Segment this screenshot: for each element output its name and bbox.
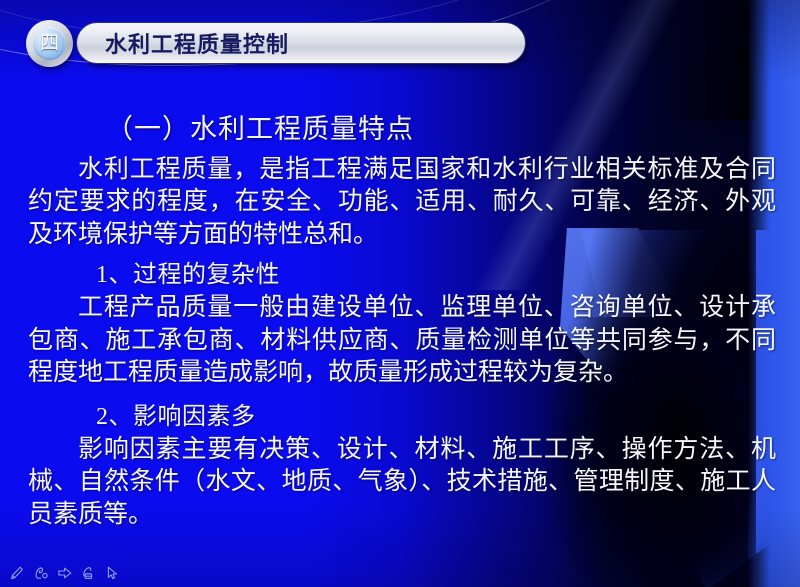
section-number-badge-inner: 四 [33, 27, 66, 60]
slide-title-pill: 水利工程质量控制 [76, 22, 526, 64]
page-title: 水利工程质量控制 [105, 27, 289, 59]
annotation-toolbar[interactable] [8, 564, 121, 581]
content-heading: （一）水利工程质量特点 [106, 112, 776, 148]
slide-title-bar: 四 水利工程质量控制 [26, 20, 526, 66]
slide-content: （一）水利工程质量特点 水利工程质量，是指工程满足国家和水利行业相关标准及合同约… [28, 112, 776, 533]
eraser-icon[interactable] [80, 564, 97, 581]
cursor-icon[interactable] [104, 564, 121, 581]
presentation-slide: 四 水利工程质量控制 （一）水利工程质量特点 水利工程质量，是指工程满足国家和水… [0, 0, 800, 587]
section-2-paragraph: 影响因素主要有决策、设计、材料、施工工序、操作方法、机械、自然条件（水文、地质、… [28, 434, 776, 532]
section-number-label: 四 [40, 34, 59, 53]
spacer [28, 392, 776, 401]
section-number-badge: 四 [26, 20, 73, 67]
pen-icon[interactable] [8, 564, 25, 581]
intro-paragraph: 水利工程质量，是指工程满足国家和水利行业相关标准及合同约定要求的程度，在安全、功… [28, 154, 776, 252]
highlighter-icon[interactable] [32, 564, 49, 581]
section-1-label: 1、过程的复杂性 [96, 259, 776, 291]
pointer-arrow-icon[interactable] [56, 564, 73, 581]
section-2-label: 2、影响因素多 [96, 401, 776, 433]
section-1-paragraph: 工程产品质量一般由建设单位、监理单位、咨询单位、设计承包商、施工承包商、材料供应… [28, 292, 776, 390]
